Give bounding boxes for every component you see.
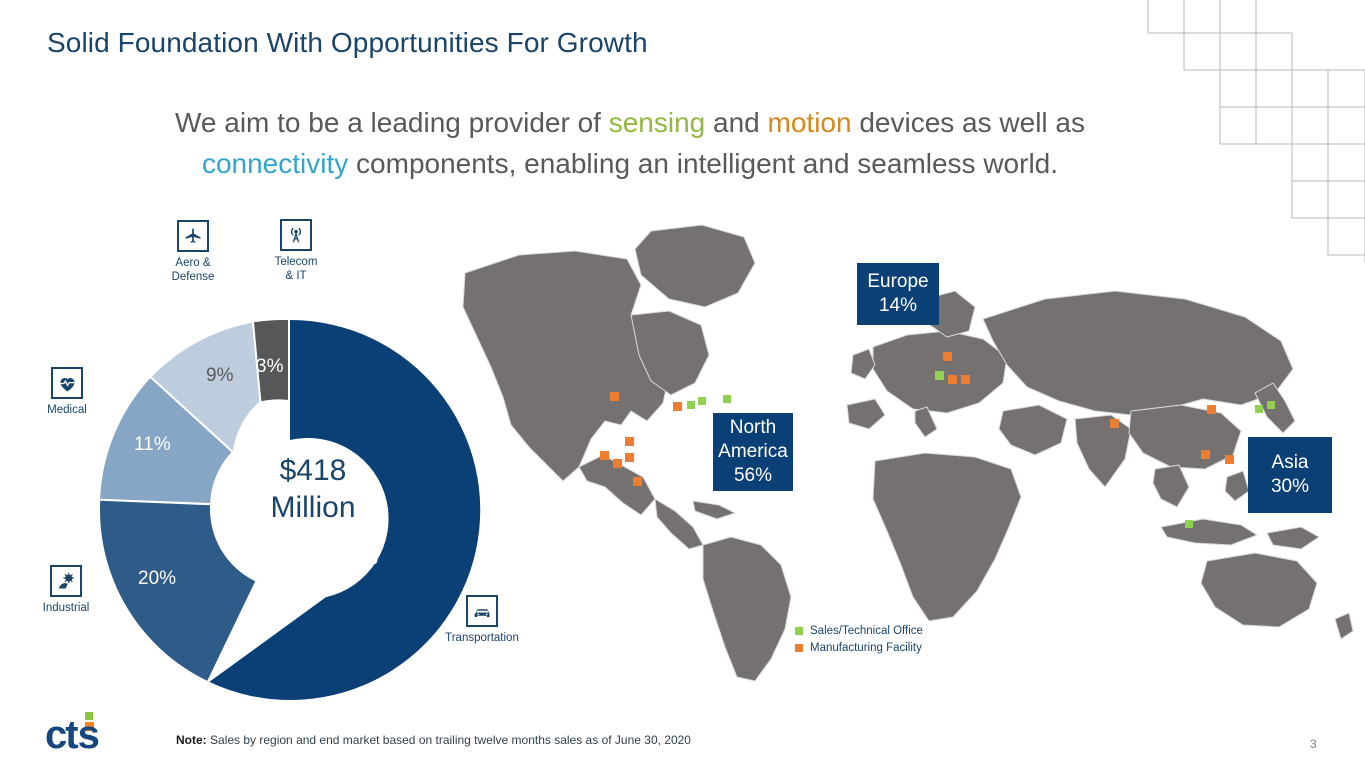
legend-item-sales: Sales/Technical Office <box>795 625 923 637</box>
landmass-australia <box>1201 553 1317 627</box>
logo-wordmark: cts <box>45 713 100 756</box>
landmass-indonesia <box>1161 519 1257 545</box>
marker-manufacturing <box>943 352 952 361</box>
end-market-industrial[interactable]: Industrial <box>14 565 118 615</box>
landmass-south-america <box>703 537 791 681</box>
region-europe-pct: 14% <box>879 294 917 318</box>
antenna-icon <box>280 219 312 251</box>
legend-swatch-sales <box>795 627 803 635</box>
footnote-text: Sales by region and end market based on … <box>210 733 691 747</box>
end-market-medical[interactable]: Medical <box>15 367 119 417</box>
heart-pulse-icon <box>51 367 83 399</box>
region-na-name-1: North <box>730 416 776 440</box>
end-market-telecom-label-1: Telecom <box>244 255 348 269</box>
marker-manufacturing <box>1207 405 1216 414</box>
end-market-telecom-label-2: & IT <box>244 269 348 283</box>
marker-manufacturing <box>633 477 642 486</box>
end-market-medical-label: Medical <box>15 403 119 417</box>
donut-value-telecom-it: 3% <box>256 356 283 378</box>
marker-manufacturing <box>600 451 609 460</box>
subtitle-text-1: We aim to be a leading provider of <box>175 107 609 138</box>
subtitle-text-3: devices as well as <box>852 107 1085 138</box>
marker-manufacturing <box>961 375 970 384</box>
footnote: Note: Sales by region and end market bas… <box>176 733 691 747</box>
marker-manufacturing <box>625 437 634 446</box>
slide-canvas: Solid Foundation With Opportunities For … <box>0 0 1365 768</box>
landmass-se-asia <box>1153 465 1189 507</box>
donut-value-aero-defense: 9% <box>206 365 233 387</box>
region-na-name-2: America <box>718 440 788 464</box>
landmass-new-zealand <box>1335 613 1353 639</box>
landmass-russia-asia <box>983 291 1293 415</box>
subtitle-connectivity: connectivity <box>202 148 348 179</box>
landmass-africa <box>873 453 1021 621</box>
donut-value-medical: 11% <box>134 434 171 456</box>
world-map: Europe 14% North America 56% Asia 30% Sa… <box>455 215 1365 685</box>
marker-sales-office <box>698 397 706 405</box>
end-market-telecom-it[interactable]: Telecom & IT <box>244 219 348 283</box>
donut-value-industrial: 20% <box>138 568 176 590</box>
donut-value-transportation: 57% <box>340 548 378 570</box>
legend-swatch-manufacturing <box>795 644 803 652</box>
end-market-aero-label-2: Defense <box>141 270 245 284</box>
landmass-caribbean <box>693 501 735 519</box>
end-market-industrial-label: Industrial <box>14 601 118 615</box>
landmass-india <box>1075 415 1131 487</box>
donut-total-amount: $418 <box>218 452 408 489</box>
end-market-aero-defense[interactable]: Aero & Defense <box>141 220 245 284</box>
legend-item-manufacturing: Manufacturing Facility <box>795 642 923 654</box>
landmass-uk <box>851 349 875 379</box>
region-callout-north-america[interactable]: North America 56% <box>713 413 793 491</box>
page-title: Solid Foundation With Opportunities For … <box>47 27 648 59</box>
subtitle-text-4: components, enabling an intelligent and … <box>348 148 1058 179</box>
donut-slice-industrial[interactable] <box>100 501 255 681</box>
page-number: 3 <box>1310 737 1317 751</box>
marker-manufacturing <box>610 392 619 401</box>
marker-manufacturing <box>613 459 622 468</box>
landmass-north-america <box>463 251 669 481</box>
landmass-china <box>1129 405 1241 469</box>
landmass-iberia <box>847 399 885 429</box>
legend-label-sales: Sales/Technical Office <box>810 625 923 637</box>
marker-manufacturing <box>1225 455 1234 464</box>
subtitle-motion: motion <box>768 107 852 138</box>
subtitle-sensing: sensing <box>609 107 706 138</box>
donut-center-total: $418 Million <box>218 452 408 526</box>
marker-sales-office <box>687 401 695 409</box>
end-market-aero-label-1: Aero & <box>141 256 245 270</box>
marker-sales-office <box>1267 401 1275 409</box>
marker-sales-office <box>1185 520 1193 528</box>
landmass-middle-east <box>999 405 1067 455</box>
region-callout-europe[interactable]: Europe 14% <box>857 263 939 325</box>
landmass-philippines <box>1225 471 1249 501</box>
marker-manufacturing <box>948 375 957 384</box>
industrial-icon <box>50 565 82 597</box>
legend-label-manufacturing: Manufacturing Facility <box>810 642 922 654</box>
landmass-new-guinea <box>1267 527 1319 549</box>
subtitle-text-2: and <box>705 107 767 138</box>
footnote-label: Note: <box>176 733 207 747</box>
region-na-pct: 56% <box>734 464 772 488</box>
region-asia-pct: 30% <box>1271 475 1309 499</box>
marker-sales-office <box>935 371 944 380</box>
airplane-icon <box>177 220 209 252</box>
region-europe-name: Europe <box>867 270 928 294</box>
region-callout-asia[interactable]: Asia 30% <box>1248 437 1332 513</box>
marker-manufacturing <box>625 453 634 462</box>
map-legend: Sales/Technical Office Manufacturing Fac… <box>795 625 923 659</box>
marker-manufacturing <box>1110 419 1119 428</box>
subtitle: We aim to be a leading provider of sensi… <box>120 102 1140 184</box>
marker-manufacturing <box>673 402 682 411</box>
marker-sales-office <box>723 395 731 403</box>
donut-total-unit: Million <box>218 489 408 526</box>
marker-manufacturing <box>1201 450 1210 459</box>
region-asia-name: Asia <box>1272 451 1309 475</box>
cts-logo: cts <box>45 710 125 756</box>
landmass-greenland <box>635 225 755 307</box>
marker-sales-office <box>1255 405 1263 413</box>
